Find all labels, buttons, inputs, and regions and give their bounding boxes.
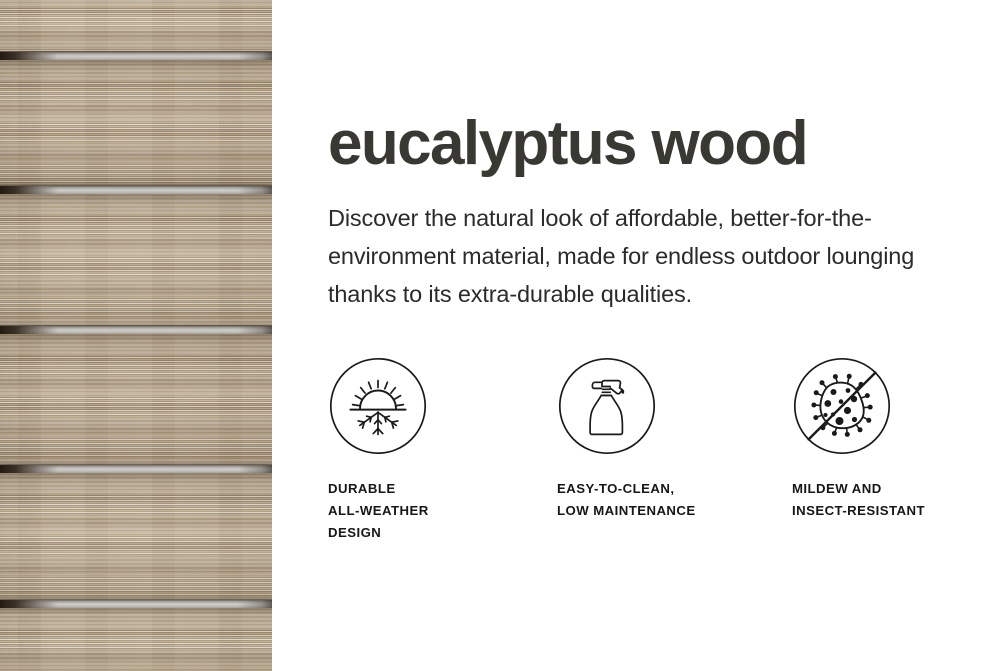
- feature-item-easy-clean: EASY-TO-CLEAN, LOW MAINTENANCE: [556, 356, 784, 544]
- wood-shading: [0, 473, 272, 609]
- wood-shading: [0, 194, 272, 336]
- spray-bottle-icon: [557, 356, 657, 456]
- wood-plank: [0, 60, 272, 192]
- wood-plank: [0, 194, 272, 336]
- content-area: eucalyptus wood Discover the natural loo…: [272, 0, 1005, 671]
- wood-shading: [0, 334, 272, 474]
- feature-caption: MILDEW AND INSECT-RESISTANT: [792, 478, 1005, 522]
- wood-slat-image: [0, 0, 272, 671]
- feature-item-mildew-resistant: MILDEW AND INSECT-RESISTANT: [784, 356, 1005, 544]
- wood-shading: [0, 608, 272, 671]
- feature-caption: DURABLE ALL-WEATHER DESIGN: [328, 478, 556, 544]
- sun-snowflake-all-weather-icon: [328, 356, 428, 456]
- wood-shading: [0, 0, 272, 60]
- feature-item-durable: DURABLE ALL-WEATHER DESIGN: [328, 356, 556, 544]
- feature-list: DURABLE ALL-WEATHER DESIGN: [328, 356, 1000, 544]
- eucalyptus-wood-banner: eucalyptus wood Discover the natural loo…: [0, 0, 1005, 671]
- page-title: eucalyptus wood: [328, 113, 807, 175]
- description-text: Discover the natural look of affordable,…: [328, 199, 953, 313]
- wood-plank: [0, 608, 272, 671]
- wood-shading: [0, 60, 272, 192]
- no-mildew-insect-icon: [792, 356, 892, 456]
- wood-plank: [0, 334, 272, 474]
- wood-plank: [0, 0, 272, 60]
- wood-plank: [0, 473, 272, 609]
- feature-caption: EASY-TO-CLEAN, LOW MAINTENANCE: [557, 478, 784, 522]
